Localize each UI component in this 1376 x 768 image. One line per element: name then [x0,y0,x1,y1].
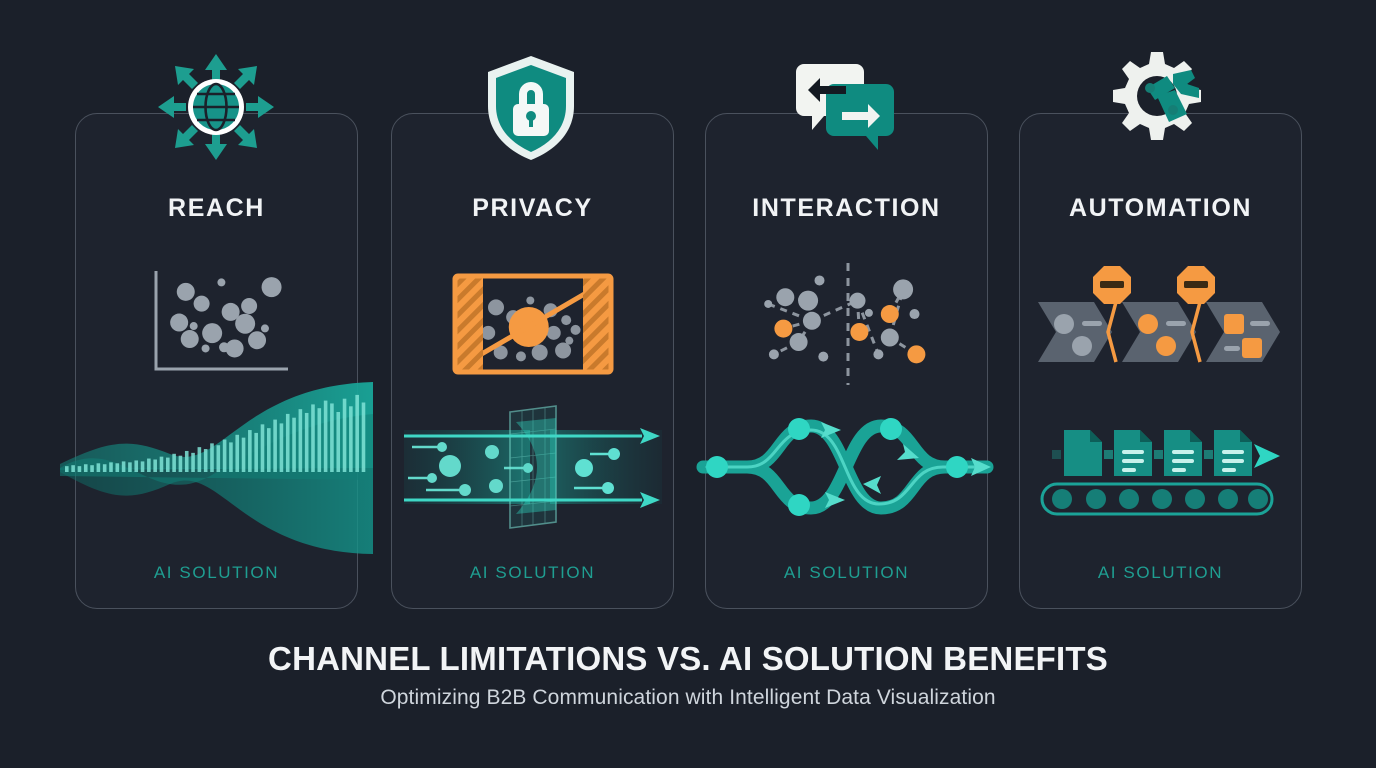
histogram-bar [217,445,221,472]
histogram-bar [242,437,246,471]
histogram-bar [172,453,176,471]
scatter-point [176,283,194,301]
scatter-point [555,342,571,358]
histogram-bar [248,430,252,472]
histogram-bar [235,434,239,471]
histogram-bar [299,409,303,472]
limitation-chart-interaction [705,258,988,390]
histogram-bar [103,464,107,472]
histogram-bar [261,424,265,472]
scatter-point [260,324,268,332]
histogram-bar [90,465,94,472]
histogram-bar [191,452,195,471]
histogram-bar [71,465,75,472]
network-node [798,291,818,311]
scatter-point [261,277,281,297]
card-title-reach: REACH [75,194,358,223]
histogram-bar [280,423,284,472]
stop-sign-icon [1093,266,1131,304]
histogram-bar [311,404,315,472]
histogram-bar [166,457,170,471]
histogram-bar [128,462,132,472]
histogram-bar [204,449,208,472]
histogram-bar [160,456,164,471]
card-title-privacy: PRIVACY [391,194,674,223]
scatter-point [531,344,547,360]
histogram-bar [122,461,126,472]
histogram-bar [229,442,233,472]
network-node [873,349,883,359]
scatter-point [202,323,222,343]
histogram-bar [134,460,138,472]
network-node [864,309,872,317]
gear-robot-arm-icon [1095,48,1225,166]
network-node [818,352,828,362]
network-node [880,305,898,323]
network-node [880,329,898,347]
histogram-bar [84,464,88,472]
histogram-bar [97,463,101,472]
card-title-interaction: INTERACTION [705,194,988,223]
network-node [850,323,868,341]
scatter-point [193,296,209,312]
histogram-bar [210,443,214,472]
solution-chart-automation [1019,392,1302,542]
page-subtitle: Optimizing B2B Communication with Intell… [0,686,1376,710]
solution-chart-privacy [391,392,674,542]
limitation-chart-reach [75,258,358,390]
card-title-automation: AUTOMATION [1019,194,1302,223]
histogram-bar [355,394,359,471]
scatter-point [217,278,225,286]
ai-solution-label-reach: AI SOLUTION [75,563,358,583]
histogram-bar [116,463,120,472]
network-node [909,309,919,319]
scatter-point [180,330,198,348]
histogram-bar [78,466,82,472]
histogram-bar [153,459,157,472]
two-way-chat-bubbles-icon [780,48,910,166]
network-node [907,345,925,363]
histogram-bar [324,400,328,471]
scatter-point [526,297,534,305]
scatter-point [546,326,560,340]
page-title: CHANNEL LIMITATIONS VS. AI SOLUTION BENE… [0,640,1376,679]
limitation-chart-automation [1019,258,1302,390]
histogram-bar [330,403,334,472]
scatter-point [561,315,571,325]
scatter-point [515,351,525,361]
histogram-bar [318,408,322,472]
network-node [814,275,824,285]
histogram-bar [141,461,145,472]
scatter-point [235,314,255,334]
scatter-point [488,299,504,315]
histogram-bar [223,439,227,471]
histogram-bar [292,417,296,471]
stop-sign-icon [1177,266,1215,304]
infographic-canvas: REACH PRIVACY INTERACTION AUTOMATION [0,0,1376,768]
histogram-bar [286,413,290,471]
network-node [768,349,778,359]
scatter-point [189,322,197,330]
limitation-chart-privacy [391,258,674,390]
shield-lock-icon [466,48,596,166]
histogram-bar [336,412,340,472]
ai-solution-label-automation: AI SOLUTION [1019,563,1302,583]
histogram-bar [305,412,309,471]
histogram-bar [185,450,189,471]
histogram-bar [343,398,347,471]
solution-chart-reach [60,392,373,542]
histogram-bar [349,406,353,472]
network-node [764,300,772,308]
network-node [789,333,807,351]
scatter-point [248,331,266,349]
scatter-point [481,326,495,340]
scatter-point [225,339,243,357]
scatter-point [201,344,209,352]
solution-chart-interaction [695,392,998,542]
histogram-bar [198,447,202,472]
histogram-bar [254,432,258,471]
histogram-bar [362,402,366,472]
network-node [774,320,792,338]
scatter-point [241,298,257,314]
histogram-bar [65,466,69,472]
scatter-point [570,325,580,335]
histogram-bar [147,458,151,471]
histogram-bar [273,419,277,471]
globe-expand-arrows-icon [151,48,281,166]
histogram-bar [179,455,183,471]
scatter-point [170,314,188,332]
network-node [802,312,820,330]
footer: CHANNEL LIMITATIONS VS. AI SOLUTION BENE… [0,640,1376,710]
ai-solution-label-interaction: AI SOLUTION [705,563,988,583]
network-node [893,279,913,299]
network-node [849,293,865,309]
network-node [776,288,794,306]
histogram-bar [267,428,271,472]
histogram-bar [109,462,113,472]
ai-solution-label-privacy: AI SOLUTION [391,563,674,583]
